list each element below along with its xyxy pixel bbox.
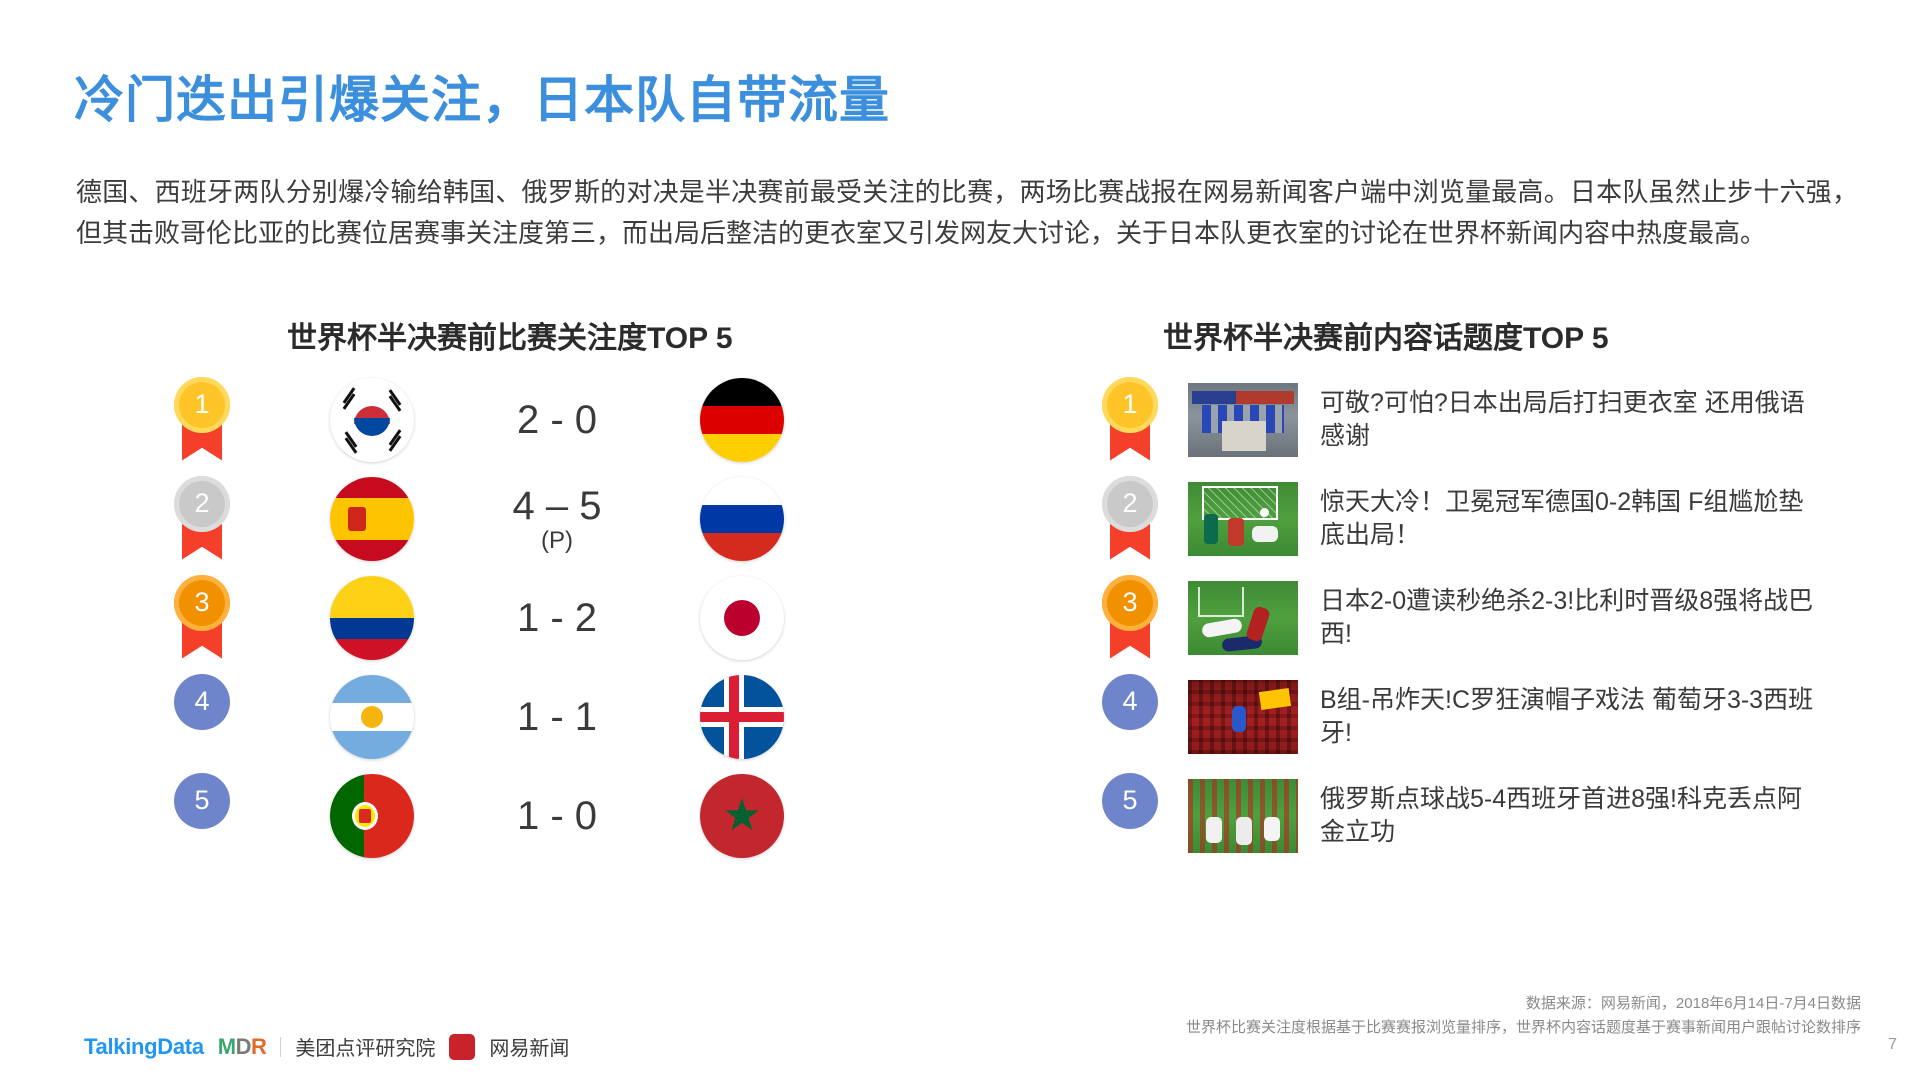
news-title: B组-吊炸天!C罗狂演帽子戏法 葡萄牙3-3西班牙! xyxy=(1320,684,1820,750)
flag-icon-away xyxy=(700,477,784,561)
flag-icon-home xyxy=(330,774,414,858)
source-note: 数据来源：网易新闻，2018年6月14日-7月4日数据 世界杯比赛关注度根据基于… xyxy=(1186,992,1861,1040)
table-row[interactable]: 1 2 - 0 xyxy=(170,370,870,469)
rank-medal-icon: 1 xyxy=(170,377,234,463)
score-value: 1 - 2 xyxy=(517,596,597,640)
list-item[interactable]: 3 日本2-0遭读秒绝杀2-3!比利时晋级8强将战巴西! xyxy=(1098,568,1888,667)
rank-medal-icon: 3 xyxy=(1098,575,1162,661)
rank-number: 4 xyxy=(1102,674,1158,730)
rank-medal-icon: 4 xyxy=(170,674,234,760)
meituan-research-label: 美团点评研究院 xyxy=(295,1032,435,1061)
flag-icon-away xyxy=(700,576,784,660)
talkingdata-logo: TalkingData xyxy=(84,1034,204,1060)
rank-medal-icon: 2 xyxy=(1098,476,1162,562)
news-title: 俄罗斯点球战5-4西班牙首进8强!科克丢点阿金立功 xyxy=(1320,783,1820,849)
table-row[interactable]: 2 4 – 5 (P) xyxy=(170,469,870,568)
logo-divider xyxy=(280,1037,281,1057)
rank-medal-icon: 5 xyxy=(1098,773,1162,859)
flag-icon-home xyxy=(330,675,414,759)
list-item[interactable]: 1 可敬?可怕?日本出局后打扫更衣室 还用俄语感谢 xyxy=(1098,370,1888,469)
rank-number: 4 xyxy=(174,674,230,730)
news-ranking-list: 1 可敬?可怕?日本出局后打扫更衣室 还用俄语感谢 2 惊天大冷！卫冕冠军德国0… xyxy=(1098,370,1888,865)
news-thumbnail xyxy=(1188,680,1298,754)
news-title: 日本2-0遭读秒绝杀2-3!比利时晋级8强将战巴西! xyxy=(1320,585,1820,651)
rank-number: 5 xyxy=(174,773,230,829)
rank-medal-icon: 2 xyxy=(170,476,234,562)
score-value: 1 - 1 xyxy=(517,695,597,739)
list-item[interactable]: 4 B组-吊炸天!C罗狂演帽子戏法 葡萄牙3-3西班牙! xyxy=(1098,667,1888,766)
rank-number: 3 xyxy=(1102,575,1158,631)
rank-medal-icon: 4 xyxy=(1098,674,1162,760)
rank-number: 1 xyxy=(1102,377,1158,433)
table-row[interactable]: 4 1 - 1 xyxy=(170,667,870,766)
source-line-1: 数据来源：网易新闻，2018年6月14日-7月4日数据 xyxy=(1186,992,1861,1016)
table-row[interactable]: 5 1 - 0 ★ xyxy=(170,766,870,865)
rank-medal-icon: 1 xyxy=(1098,377,1162,463)
rank-number: 2 xyxy=(174,476,230,532)
lede-paragraph: 德国、西班牙两队分别爆冷输给韩国、俄罗斯的对决是半决赛前最受关注的比赛，两场比赛… xyxy=(76,172,1858,254)
flag-icon-away xyxy=(700,675,784,759)
rank-number: 5 xyxy=(1102,773,1158,829)
match-score: 4 – 5 (P) xyxy=(414,484,700,554)
flag-icon-home xyxy=(330,477,414,561)
flag-icon-home xyxy=(330,378,414,462)
netease-news-label: 网易新闻 xyxy=(489,1032,569,1061)
netease-badge-icon xyxy=(449,1034,475,1060)
section-title-matches: 世界杯半决赛前比赛关注度TOP 5 xyxy=(287,313,733,357)
score-value: 4 – 5 xyxy=(513,484,602,528)
news-thumbnail xyxy=(1188,383,1298,457)
list-item[interactable]: 5 俄罗斯点球战5-4西班牙首进8强!科克丢点阿金立功 xyxy=(1098,766,1888,865)
news-title: 可敬?可怕?日本出局后打扫更衣室 还用俄语感谢 xyxy=(1320,387,1820,453)
source-line-2: 世界杯比赛关注度根据基于比赛赛报浏览量排序，世界杯内容话题度基于赛事新闻用户跟帖… xyxy=(1186,1016,1861,1040)
match-score: 1 - 1 xyxy=(414,695,700,739)
section-title-topics: 世界杯半决赛前内容话题度TOP 5 xyxy=(1163,313,1609,357)
page-title: 冷门迭出引爆关注，日本队自带流量 xyxy=(74,60,890,132)
news-title: 惊天大冷！卫冕冠军德国0-2韩国 F组尴尬垫底出局！ xyxy=(1320,486,1820,552)
footer-logos: TalkingData MDR 美团点评研究院 网易新闻 xyxy=(84,1032,569,1061)
flag-icon-home xyxy=(330,576,414,660)
match-score: 2 - 0 xyxy=(414,398,700,442)
rank-number: 2 xyxy=(1102,476,1158,532)
page-number: 7 xyxy=(1888,1036,1897,1054)
flag-icon-away: ★ xyxy=(700,774,784,858)
match-score: 1 - 2 xyxy=(414,596,700,640)
mdr-logo: MDR xyxy=(218,1034,267,1060)
table-row[interactable]: 3 1 - 2 xyxy=(170,568,870,667)
news-thumbnail xyxy=(1188,779,1298,853)
news-thumbnail xyxy=(1188,581,1298,655)
flag-icon-away xyxy=(700,378,784,462)
penalty-note: (P) xyxy=(414,528,700,554)
match-score: 1 - 0 xyxy=(414,794,700,838)
score-value: 1 - 0 xyxy=(517,794,597,838)
list-item[interactable]: 2 惊天大冷！卫冕冠军德国0-2韩国 F组尴尬垫底出局！ xyxy=(1098,469,1888,568)
news-thumbnail xyxy=(1188,482,1298,556)
rank-number: 3 xyxy=(174,575,230,631)
rank-number: 1 xyxy=(174,377,230,433)
rank-medal-icon: 5 xyxy=(170,773,234,859)
score-value: 2 - 0 xyxy=(517,398,597,442)
match-ranking-list: 1 2 - 0 xyxy=(170,370,870,865)
slide-root: 冷门迭出引爆关注，日本队自带流量 德国、西班牙两队分别爆冷输给韩国、俄罗斯的对决… xyxy=(0,0,1921,1080)
rank-medal-icon: 3 xyxy=(170,575,234,661)
